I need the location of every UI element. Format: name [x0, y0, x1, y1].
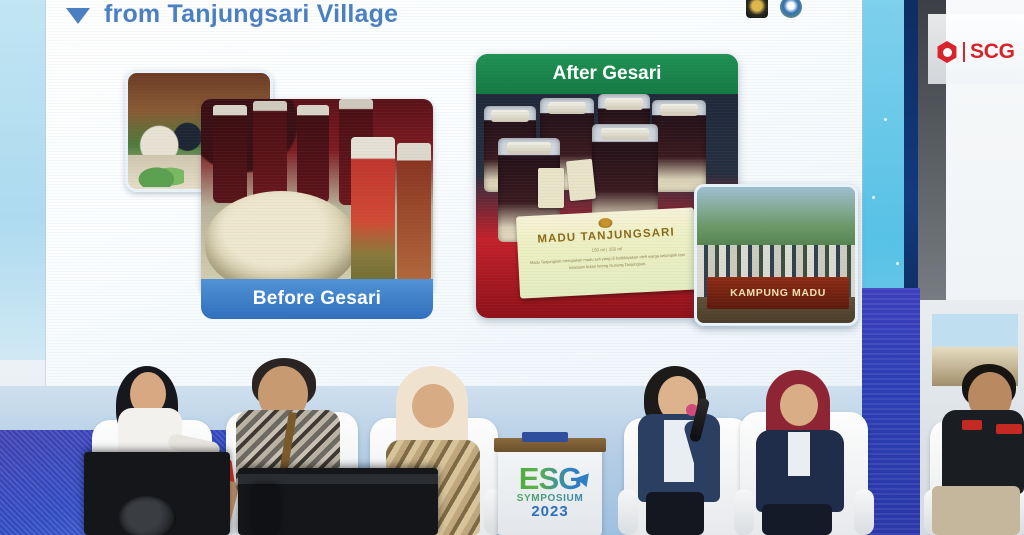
emblem-gold-icon: [746, 0, 768, 18]
after-gesari-text: After Gesari: [553, 63, 662, 85]
esg-symposium-logo: ESG SYMPOSIUM 2023: [498, 464, 602, 520]
honey-jar: [652, 100, 706, 192]
bee-icon: [598, 218, 613, 229]
photo-crowd: [697, 245, 855, 297]
inner-shirt: [788, 432, 810, 476]
raw-honey-bowl: [205, 191, 357, 293]
esg-logo-year: 2023: [498, 503, 602, 520]
before-gesari-label: Before Gesari: [201, 279, 433, 319]
after-gesari-card: After Gesari MADU TANJUNGSARI 150 ml | 2…: [476, 54, 738, 318]
honey-jar: [598, 94, 650, 182]
honey-bottle: [339, 99, 373, 205]
torso: [942, 410, 1024, 494]
honey-jar: [484, 106, 536, 192]
camera-monitor: [84, 452, 230, 535]
scg-elephant-hex-icon: [936, 41, 958, 63]
slide-emblem-group: [746, 0, 802, 18]
raw-honey-bottles-photo: [201, 99, 433, 295]
honey-bottle: [397, 143, 431, 283]
after-gesari-label: After Gesari: [476, 54, 738, 94]
podium-object: [522, 432, 568, 442]
scg-wordmark: SCG: [970, 40, 1015, 64]
honey-bottle: [297, 105, 329, 203]
honey-jar: [498, 138, 560, 242]
jar-hang-tag: [538, 168, 564, 208]
honey-bottle: [253, 101, 287, 205]
leg: [646, 492, 704, 535]
madu-tanjungsari-product-label: MADU TANJUNGSARI 150 ml | 250 ml Madu Ta…: [516, 207, 698, 298]
honey-bottle: [351, 137, 395, 287]
photo-foreground-band: [128, 155, 270, 189]
honey-jar: [540, 98, 594, 190]
camera-lens-icon: [118, 496, 176, 535]
camera-stand: [252, 486, 278, 535]
jar-hang-tag: [566, 159, 596, 201]
leg: [932, 486, 1020, 535]
scg-divider: [963, 42, 965, 62]
head: [412, 384, 454, 428]
product-label-title: MADU TANJUNGSARI: [525, 226, 687, 246]
scg-logo-panel: SCG: [928, 14, 1024, 84]
photo-leaf-decor: [138, 161, 184, 187]
presentation-slide: from Tanjungsari Village Before Gesari A…: [46, 0, 862, 386]
scg-logo: SCG: [936, 40, 1015, 64]
kampung-madu-group-photo: KAMPUNG MADU: [694, 184, 858, 326]
kampung-madu-text: KAMPUNG MADU: [730, 287, 826, 299]
sparkle-dot: [884, 118, 887, 121]
sparkle-dot: [872, 196, 875, 199]
podium: ESG SYMPOSIUM 2023: [498, 448, 602, 535]
kampung-madu-banner: KAMPUNG MADU: [707, 277, 849, 309]
head: [780, 384, 818, 426]
honey-bottle: [213, 105, 247, 203]
screenshot-root: from Tanjungsari Village Before Gesari A…: [0, 0, 1024, 535]
emblem-blue-icon: [780, 0, 802, 18]
sparkle-dot: [896, 262, 899, 265]
shirt-patch-icon: [996, 424, 1022, 434]
product-label-body: Madu Tanjungsari merupakan madu asli yan…: [526, 252, 688, 274]
shirt-patch-icon: [962, 420, 982, 430]
product-label-subtitle: 150 ml | 250 ml: [526, 243, 688, 256]
slide-title: from Tanjungsari Village: [104, 0, 398, 29]
villagers-group-photo: [125, 70, 273, 192]
leg: [762, 504, 832, 535]
triangle-bullet-icon: [66, 8, 90, 24]
before-gesari-text: Before Gesari: [253, 288, 382, 310]
honey-jar: [592, 124, 658, 232]
